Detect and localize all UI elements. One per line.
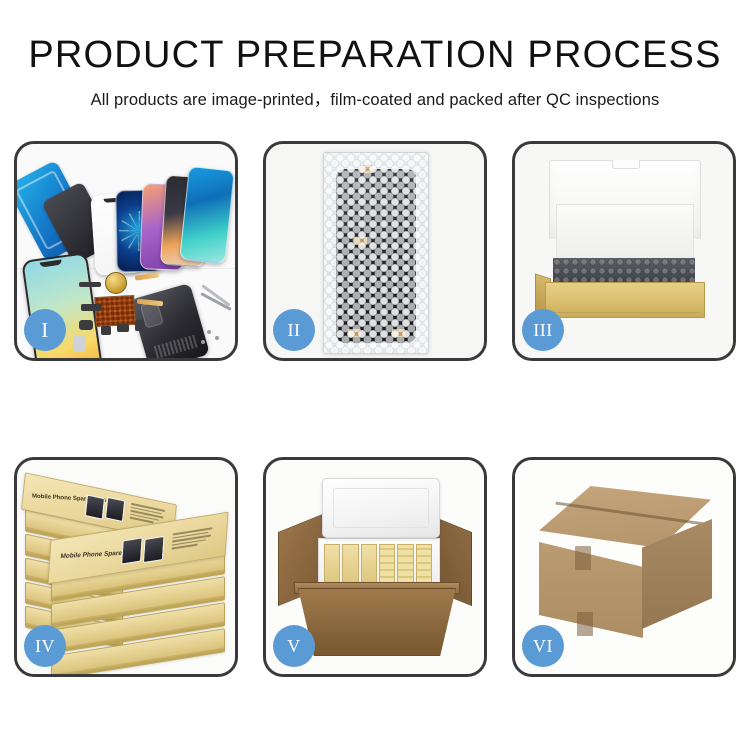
sim-tray-part-icon: [135, 320, 144, 331]
process-step-panel-2: II: [263, 141, 487, 361]
step-1-photo: I: [17, 144, 235, 358]
product-preparation-infographic: PRODUCT PREPARATION PROCESS All products…: [0, 0, 750, 750]
retail-box-screen-thumb: [143, 536, 165, 563]
phone-display-teal-icon: [179, 166, 235, 264]
process-steps-grid: I II: [14, 141, 736, 677]
retail-box-feature-list: [172, 527, 213, 549]
glass-lens-part-icon: [73, 336, 85, 352]
step-badge-1: I: [24, 309, 66, 351]
battery-part-icon: [79, 320, 93, 330]
process-step-panel-5: V: [263, 457, 487, 677]
bubble-wrapped-contents-icon: [553, 258, 695, 284]
step-3-photo: III: [515, 144, 733, 358]
kraft-box-front-icon: [545, 282, 705, 318]
process-step-panel-3: III: [512, 141, 736, 361]
connector-part-icon: [79, 282, 101, 287]
camera-module-icon: [81, 304, 101, 311]
button-part-icon: [117, 324, 129, 332]
vibrator-part-icon: [101, 326, 111, 335]
step-5-photo: V: [266, 460, 484, 674]
step-badge-4: IV: [24, 625, 66, 667]
step-4-photo: Mobile Phone Spare Parts Mobile Phone Sp…: [17, 460, 235, 674]
carton-tape-icon: [575, 546, 591, 570]
styrofoam-lid-icon: [322, 478, 440, 538]
step-badge-5: V: [273, 625, 315, 667]
carton-tape-icon: [577, 612, 593, 636]
step-6-photo: VI: [515, 460, 733, 674]
speaker-component-icon: [105, 272, 127, 294]
retail-box-screen-thumb: [121, 537, 143, 564]
page-subtitle: All products are image-printed，film-coat…: [0, 86, 750, 110]
process-step-panel-4: Mobile Phone Spare Parts Mobile Phone Sp…: [14, 457, 238, 677]
process-step-panel-1: I: [14, 141, 238, 361]
header: PRODUCT PREPARATION PROCESS All products…: [0, 36, 750, 110]
step-badge-3: III: [522, 309, 564, 351]
carton-body-icon: [298, 588, 456, 656]
packed-retail-boxes-icon: [324, 544, 432, 584]
retail-box-screen-thumb: [85, 494, 105, 519]
chip-array-icon: [94, 295, 136, 327]
retail-box-screen-thumb: [105, 497, 125, 522]
step-2-photo: II: [266, 144, 484, 358]
step-badge-2: II: [273, 309, 315, 351]
process-step-panel-6: VI: [512, 457, 736, 677]
bubble-wrap-bag-icon: [323, 152, 429, 354]
foam-sheet-icon: [556, 204, 694, 264]
step-badge-6: VI: [522, 625, 564, 667]
page-title: PRODUCT PREPARATION PROCESS: [0, 36, 750, 76]
